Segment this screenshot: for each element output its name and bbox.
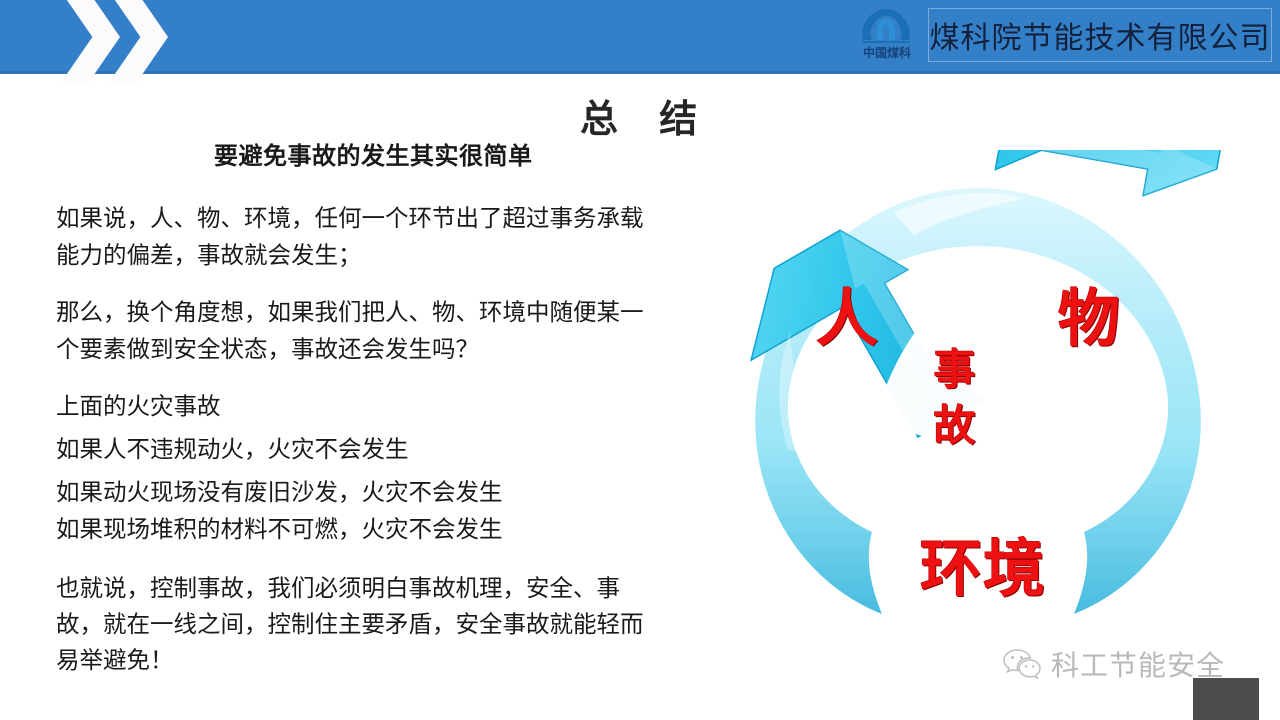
paragraph-line: 个要素做到安全状态，事故还会发生吗？ [56, 331, 746, 368]
paragraph-line: 故，就在一线之间，控制住主要矛盾，安全事故就能轻而 [56, 606, 746, 642]
company-logo: 中国煤科 [848, 6, 926, 68]
paragraph-line: 如果人不违规动火，火灾不会发生 [56, 431, 746, 468]
paragraph-line: 如果现场堆积的材料不可燃，火灾不会发生 [56, 511, 746, 548]
paragraph-line: 也就说，控制事故，我们必须明白事故机理，安全、事 [56, 570, 746, 606]
recycle-label-person: 人 [816, 268, 879, 358]
paragraph-line: 上面的火灾事故 [56, 388, 746, 425]
paragraph-line: 能力的偏差，事故就会发生； [56, 237, 746, 274]
paragraph-line: 易举避免！ [56, 642, 746, 678]
slide-header-bar: 中国煤科 煤科院节能技术有限公司 [0, 0, 1280, 74]
chevron-right-icon-1 [60, 0, 120, 84]
wechat-watermark: 科工节能安全 [1002, 644, 1225, 684]
chevron-right-icon-2 [108, 0, 168, 84]
page-subtitle: 要避免事故的发生其实很简单 [214, 136, 533, 171]
recycle-triangle-arrows-icon: 人 物 环境 事故 [728, 150, 1228, 650]
recycle-label-environment: 环境 [920, 518, 1046, 608]
paragraph-conclusion: 也就说，控制事故，我们必须明白事故机理，安全、事 故，就在一线之间，控制住主要矛… [56, 570, 746, 678]
paragraph-intro: 如果说，人、物、环境，任何一个环节出了超过事务承载 能力的偏差，事故就会发生； [56, 200, 746, 274]
paragraph-line: 那么，换个角度想，如果我们把人、物、环境中随便某一 [56, 294, 746, 331]
recycle-label-thing: 物 [1058, 268, 1121, 358]
paragraph-fire-case: 上面的火灾事故 如果人不违规动火，火灾不会发生 如果动火现场没有废旧沙发，火灾不… [56, 388, 746, 548]
wechat-icon [1002, 647, 1042, 681]
china-coal-technology-logo-icon [860, 8, 912, 44]
slide-canvas: 中国煤科 煤科院节能技术有限公司 总 结 要避免事故的发生其实很简单 如果说，人… [0, 0, 1280, 720]
corner-block [1193, 678, 1259, 720]
page-title: 总 结 [580, 88, 711, 143]
paragraph-line: 如果动火现场没有废旧沙发，火灾不会发生 [56, 474, 746, 511]
body-text-column: 如果说，人、物、环境，任何一个环节出了超过事务承载 能力的偏差，事故就会发生； … [56, 200, 746, 698]
company-name-text: 煤科院节能技术有限公司 [930, 13, 1271, 57]
paragraph-line: 如果说，人、物、环境，任何一个环节出了超过事务承载 [56, 200, 746, 237]
company-logo-caption: 中国煤科 [848, 46, 926, 60]
recycle-label-accident: 事故 [932, 342, 978, 454]
company-name-box: 煤科院节能技术有限公司 [928, 8, 1272, 62]
paragraph-question: 那么，换个角度想，如果我们把人、物、环境中随便某一 个要素做到安全状态，事故还会… [56, 294, 746, 368]
